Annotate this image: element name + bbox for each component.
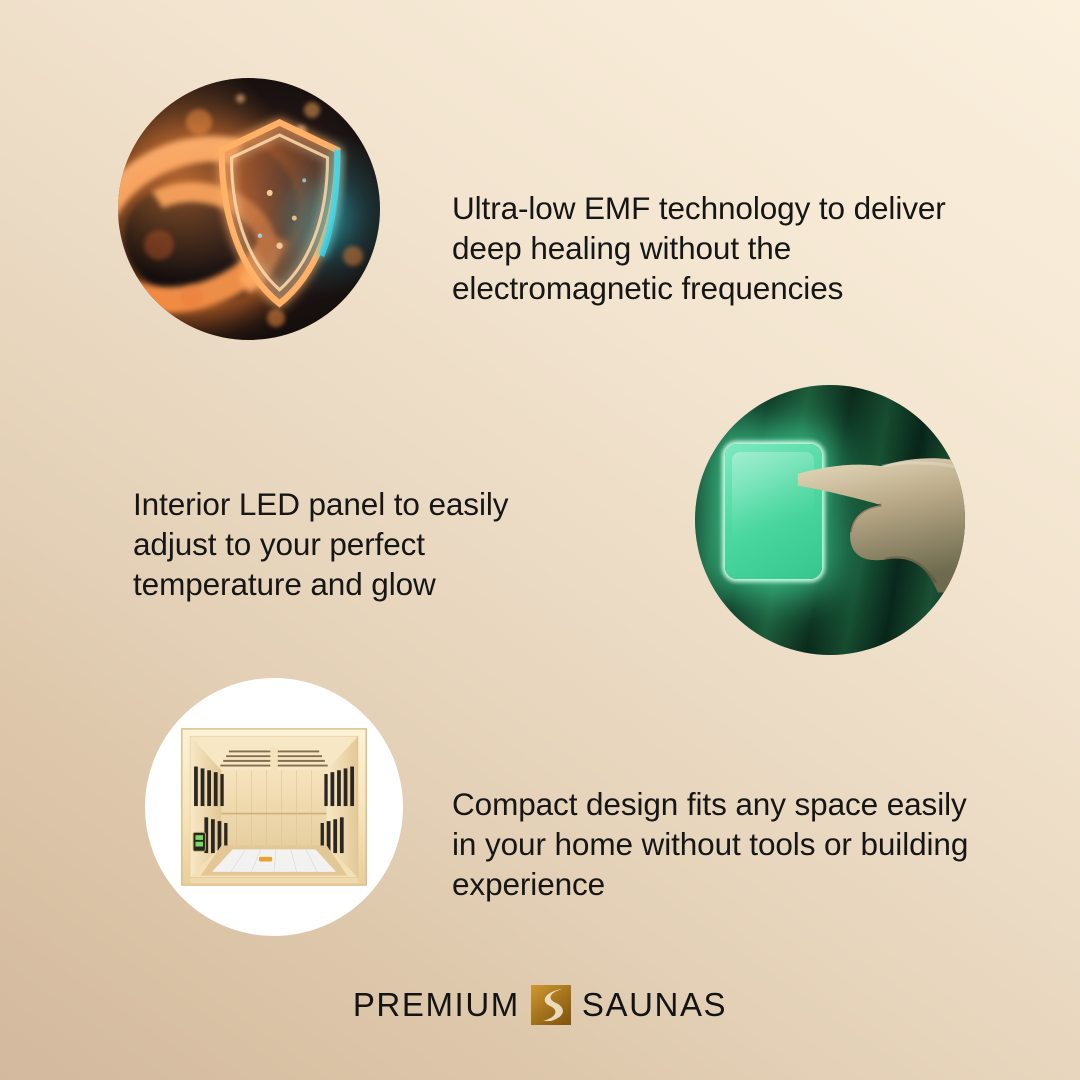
- bokeh-particle: [186, 109, 212, 135]
- bokeh-particle: [343, 246, 363, 266]
- bokeh-particle: [304, 102, 320, 118]
- shield-icon: [218, 120, 341, 309]
- feature-poster: Ultra-low EMF technology to deliver deep…: [0, 0, 1080, 1080]
- premium-saunas-s-monogram-icon: [531, 985, 571, 1025]
- glowing-shield-photo: [118, 78, 380, 340]
- feature-text-led: Interior LED panel to easily adjust to y…: [133, 484, 563, 605]
- bokeh-particle: [236, 94, 245, 103]
- led-control-panel-photo: [695, 385, 965, 655]
- brand-logo: PREMIUM SAUNAS: [0, 985, 1080, 1025]
- bokeh-particle: [144, 230, 174, 260]
- feature-text-compact: Compact design fits any space easily in …: [452, 784, 972, 905]
- logo-word-saunas: SAUNAS: [582, 986, 727, 1024]
- feature-text-emf: Ultra-low EMF technology to deliver deep…: [452, 188, 962, 309]
- logo-word-premium: PREMIUM: [353, 986, 520, 1024]
- bokeh-particle: [181, 285, 203, 307]
- pointing-hand: [792, 444, 965, 595]
- sauna-cabin-photo: [145, 678, 403, 936]
- bokeh-particle: [267, 309, 285, 327]
- sauna-cabin-illustration: [176, 727, 372, 887]
